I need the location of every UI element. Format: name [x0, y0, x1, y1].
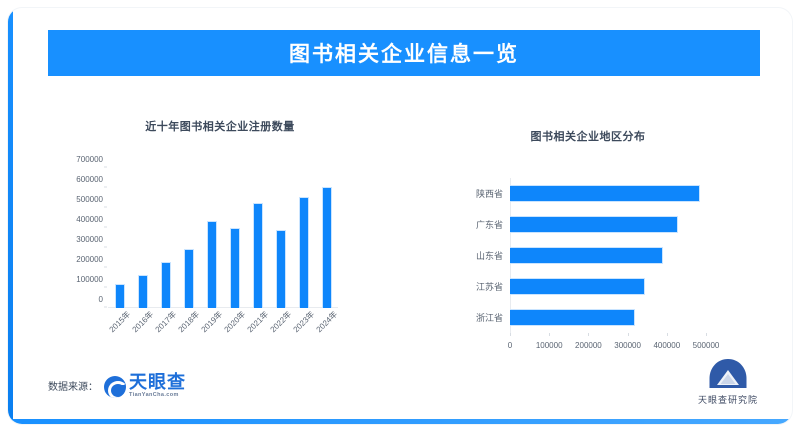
y-axis-tick-mark [104, 187, 107, 188]
y-axis-category-label: 广东省 [476, 218, 503, 231]
y-axis-tick-mark [104, 287, 107, 288]
x-axis-tick-label: 100000 [536, 341, 563, 350]
vertical-bar-slot: 2020年 [223, 168, 246, 308]
horizontal-bars-group: 陕西省广东省山东省江苏省浙江省 [510, 178, 706, 333]
y-axis-tick-label: 200000 [76, 256, 103, 264]
x-axis-tick-label: 2024年 [313, 309, 339, 335]
y-axis-tick-label: 300000 [76, 236, 103, 244]
horizontal-bar[interactable] [510, 185, 700, 202]
vertical-bar-slot: 2022年 [269, 168, 292, 308]
vertical-bar[interactable] [253, 203, 263, 308]
horizontal-bar[interactable] [510, 278, 645, 295]
vertical-bars-group: 2015年2016年2017年2018年2019年2020年2021年2022年… [108, 168, 338, 308]
tianyancha-wordmark: 天眼查 TianYanCha.com [129, 373, 186, 399]
y-axis-category-label: 陕西省 [476, 187, 503, 200]
institute-name: 天眼查研究院 [698, 393, 758, 406]
tianyancha-logo: 天眼查 TianYanCha.com [104, 373, 186, 399]
x-axis-tick-label: 2023年 [290, 309, 316, 335]
x-axis-tick-label: 2020年 [221, 309, 247, 335]
chart-title-registrations: 近十年图书相关企业注册数量 [50, 118, 390, 134]
horizontal-bar[interactable] [510, 309, 635, 326]
chart-panel-registrations: 近十年图书相关企业注册数量 2015年2016年2017年2018年2019年2… [50, 96, 390, 366]
page-title: 图书相关企业信息一览 [289, 38, 519, 68]
horizontal-bar[interactable] [510, 216, 678, 233]
y-axis-tick-label: 100000 [76, 276, 103, 284]
vertical-bar[interactable] [115, 284, 125, 308]
tianyancha-name-en: TianYanCha.com [129, 392, 179, 398]
x-axis-tick-label: 0 [508, 341, 512, 350]
x-axis-tick-label: 2017年 [152, 309, 178, 335]
vertical-bar[interactable] [276, 230, 286, 308]
vertical-bar-slot: 2024年 [315, 168, 338, 308]
chart-title-regions: 图书相关企业地区分布 [418, 128, 758, 144]
title-banner: 图书相关企业信息一览 [48, 30, 760, 76]
x-axis-tick-mark [628, 333, 629, 336]
vertical-bar-slot: 2021年 [246, 168, 269, 308]
tianyancha-name-cn: 天眼查 [129, 373, 186, 391]
y-axis-category-label: 浙江省 [476, 311, 503, 324]
x-axis-tick-label: 400000 [653, 341, 680, 350]
vertical-bar-slot: 2017年 [154, 168, 177, 308]
vertical-bar-slot: 2019年 [200, 168, 223, 308]
y-axis-tick-mark [104, 307, 107, 308]
horizontal-bar-plot-area: 陕西省广东省山东省江苏省浙江省 010000020000030000040000… [510, 178, 706, 333]
vertical-bar[interactable] [322, 187, 332, 308]
horizontal-bar[interactable] [510, 247, 663, 264]
y-axis-category-label: 江苏省 [476, 280, 503, 293]
x-axis-tick-label: 500000 [693, 341, 720, 350]
x-axis-tick-mark [549, 333, 550, 336]
vertical-bar-slot: 2015年 [108, 168, 131, 308]
footer-institute: 天眼查研究院 [698, 357, 758, 406]
y-axis-tick-label: 700000 [76, 156, 103, 164]
vertical-bar[interactable] [299, 197, 309, 308]
horizontal-bar-slot: 广东省 [510, 216, 706, 233]
tianyancha-institute-logo-icon [708, 357, 748, 391]
y-axis-tick-mark [104, 167, 107, 168]
left-accent-bar [8, 8, 13, 424]
infographic-card: 图书相关企业信息一览 近十年图书相关企业注册数量 2015年2016年2017年… [8, 8, 792, 424]
vertical-bar-plot-area: 2015年2016年2017年2018年2019年2020年2021年2022年… [108, 168, 338, 308]
vertical-bar[interactable] [138, 275, 148, 308]
vertical-bar-slot: 2016年 [131, 168, 154, 308]
x-axis-tick-label: 2015年 [106, 309, 132, 335]
horizontal-bar-slot: 浙江省 [510, 309, 706, 326]
y-axis-tick-label: 400000 [76, 216, 103, 224]
y-axis-tick-label: 0 [99, 296, 103, 304]
chart-panel-regions: 图书相关企业地区分布 陕西省广东省山东省江苏省浙江省 0100000200000… [418, 96, 758, 366]
bottom-accent-bar [8, 419, 792, 424]
y-axis-tick-label: 500000 [76, 196, 103, 204]
vertical-bar[interactable] [207, 221, 217, 308]
y-axis-category-label: 山东省 [476, 249, 503, 262]
vertical-bar[interactable] [230, 228, 240, 308]
y-axis-tick-mark [104, 267, 107, 268]
x-axis-tick-mark [706, 333, 707, 336]
x-axis-tick-label: 2021年 [244, 309, 270, 335]
y-axis-tick-mark [104, 207, 107, 208]
x-axis-tick-mark [510, 333, 511, 336]
x-axis-tick-label: 2022年 [267, 309, 293, 335]
x-axis-tick-mark [588, 333, 589, 336]
x-axis-tick-label: 2016年 [129, 309, 155, 335]
source-label: 数据来源： [48, 378, 98, 393]
y-axis-tick-mark [104, 247, 107, 248]
x-axis-tick-label: 2018年 [175, 309, 201, 335]
y-axis-tick-mark [104, 227, 107, 228]
tianyancha-eye-logo-icon [104, 376, 126, 398]
footer-source: 数据来源： 天眼查 TianYanCha.com [48, 373, 186, 399]
horizontal-bar-slot: 山东省 [510, 247, 706, 264]
vertical-bar-slot: 2018年 [177, 168, 200, 308]
x-axis-tick-label: 300000 [614, 341, 641, 350]
x-axis-tick-label: 200000 [575, 341, 602, 350]
horizontal-bar-slot: 江苏省 [510, 278, 706, 295]
x-axis-tick-label: 2019年 [198, 309, 224, 335]
y-axis-tick-label: 600000 [76, 176, 103, 184]
vertical-bar[interactable] [184, 249, 194, 308]
vertical-bar[interactable] [161, 262, 171, 308]
x-axis-tick-mark [667, 333, 668, 336]
vertical-bar-slot: 2023年 [292, 168, 315, 308]
horizontal-bar-slot: 陕西省 [510, 185, 706, 202]
